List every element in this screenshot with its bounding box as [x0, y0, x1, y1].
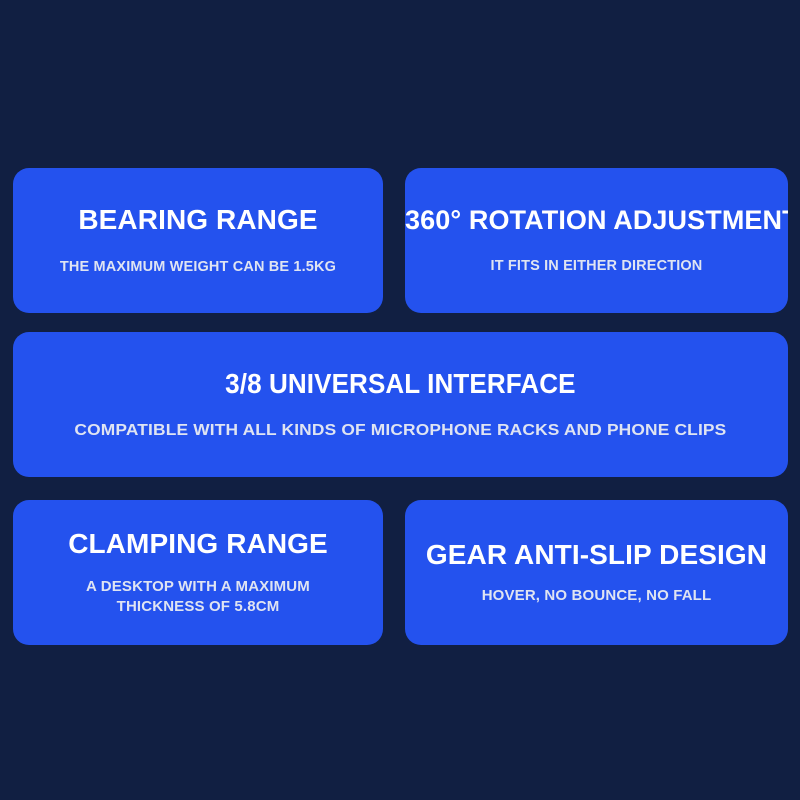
card-subtitle-clamping-range: A DESKTOP WITH A MAXIMUM THICKNESS OF 5.… — [86, 577, 310, 617]
card-subtitle-line-1: A DESKTOP WITH A MAXIMUM — [86, 577, 310, 597]
card-subtitle-universal-interface: COMPATIBLE WITH ALL KINDS OF MICROPHONE … — [74, 420, 726, 441]
card-subtitle-anti-slip-design: HOVER, NO BOUNCE, NO FALL — [482, 586, 712, 606]
feature-card-rotation-adjustment[interactable]: 360° ROTATION ADJUSTMENT IT FITS IN EITH… — [405, 168, 788, 313]
card-subtitle-bearing-range: THE MAXIMUM WEIGHT CAN BE 1.5KG — [60, 258, 336, 277]
feature-cards-board: BEARING RANGE THE MAXIMUM WEIGHT CAN BE … — [0, 0, 800, 800]
card-title-universal-interface: 3/8 UNIVERSAL INTERFACE — [225, 368, 575, 399]
card-subtitle-rotation-adjustment: IT FITS IN EITHER DIRECTION — [491, 257, 703, 276]
feature-card-universal-interface[interactable]: 3/8 UNIVERSAL INTERFACE COMPATIBLE WITH … — [13, 332, 788, 477]
feature-card-bearing-range[interactable]: BEARING RANGE THE MAXIMUM WEIGHT CAN BE … — [13, 168, 383, 313]
card-subtitle-line-2: THICKNESS OF 5.8CM — [86, 597, 310, 617]
card-title-clamping-range: CLAMPING RANGE — [68, 528, 328, 559]
card-title-bearing-range: BEARING RANGE — [78, 204, 317, 235]
card-title-anti-slip-design: GEAR ANTI-SLIP DESIGN — [426, 539, 767, 570]
feature-card-clamping-range[interactable]: CLAMPING RANGE A DESKTOP WITH A MAXIMUM … — [13, 500, 383, 645]
card-title-rotation-adjustment: 360° ROTATION ADJUSTMENT — [405, 205, 788, 235]
feature-card-anti-slip-design[interactable]: GEAR ANTI-SLIP DESIGN HOVER, NO BOUNCE, … — [405, 500, 788, 645]
